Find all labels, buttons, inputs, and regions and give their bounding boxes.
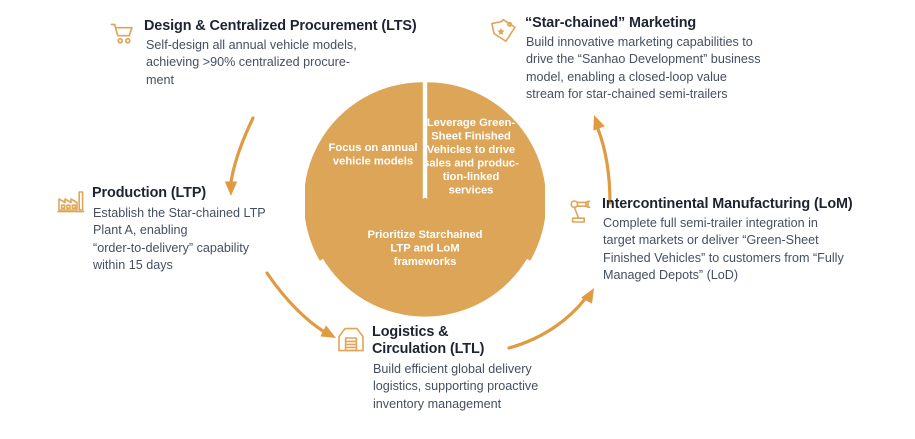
diagram-canvas: Focus on annualvehicle models Leverage G… — [0, 0, 915, 439]
callout-title: Design & Centralized Procurement (LTS) — [144, 18, 468, 35]
robot-arm-icon — [566, 197, 596, 227]
callout-logistics-circulation[interactable]: Logistics & Circulation (LTL) Build effi… — [336, 324, 586, 413]
callout-title: Production (LTP) — [92, 185, 296, 202]
value-chain-wheel: Focus on annualvehicle models Leverage G… — [305, 81, 545, 319]
callout-production[interactable]: Production (LTP) Establish the Star-chai… — [56, 185, 296, 274]
warehouse-icon — [336, 325, 366, 355]
callout-body: Design & Centralized Procurement (LTS) S… — [144, 18, 468, 89]
callout-title: Logistics & Circulation (LTL) — [372, 324, 586, 358]
callout-body: Logistics & Circulation (LTL) Build effi… — [372, 324, 586, 413]
callout-description: Build innovative marketing capabilities … — [526, 34, 819, 104]
callout-description: Complete full semi-trailer integration i… — [603, 215, 896, 285]
callout-title: “Star-chained” Marketing — [525, 15, 819, 32]
callout-star-chained-marketing[interactable]: “Star-chained” Marketing Build innovativ… — [489, 15, 819, 103]
callout-body: “Star-chained” Marketing Build innovativ… — [525, 15, 819, 103]
callout-description: Build efficient global delivery logistic… — [373, 361, 586, 413]
callout-body: Production (LTP) Establish the Star-chai… — [92, 185, 296, 274]
wheel-segment-left-label: Focus on annualvehicle models — [329, 142, 418, 168]
factory-icon — [56, 186, 86, 216]
callout-intercontinental-manufacturing[interactable]: Intercontinental Manufacturing (LoM) Com… — [566, 196, 896, 284]
callout-description: Self-design all annual vehicle models, a… — [146, 37, 468, 89]
callout-title: Intercontinental Manufacturing (LoM) — [602, 196, 896, 213]
callout-description: Establish the Star-chained LTP Plant A, … — [93, 205, 296, 275]
shopping-cart-icon — [108, 19, 138, 49]
callout-body: Intercontinental Manufacturing (LoM) Com… — [602, 196, 896, 284]
arrow-lom-to-mkt — [593, 115, 610, 203]
price-tag-star-icon — [489, 16, 519, 46]
callout-design-centralized-procurement[interactable]: Design & Centralized Procurement (LTS) S… — [108, 18, 468, 89]
